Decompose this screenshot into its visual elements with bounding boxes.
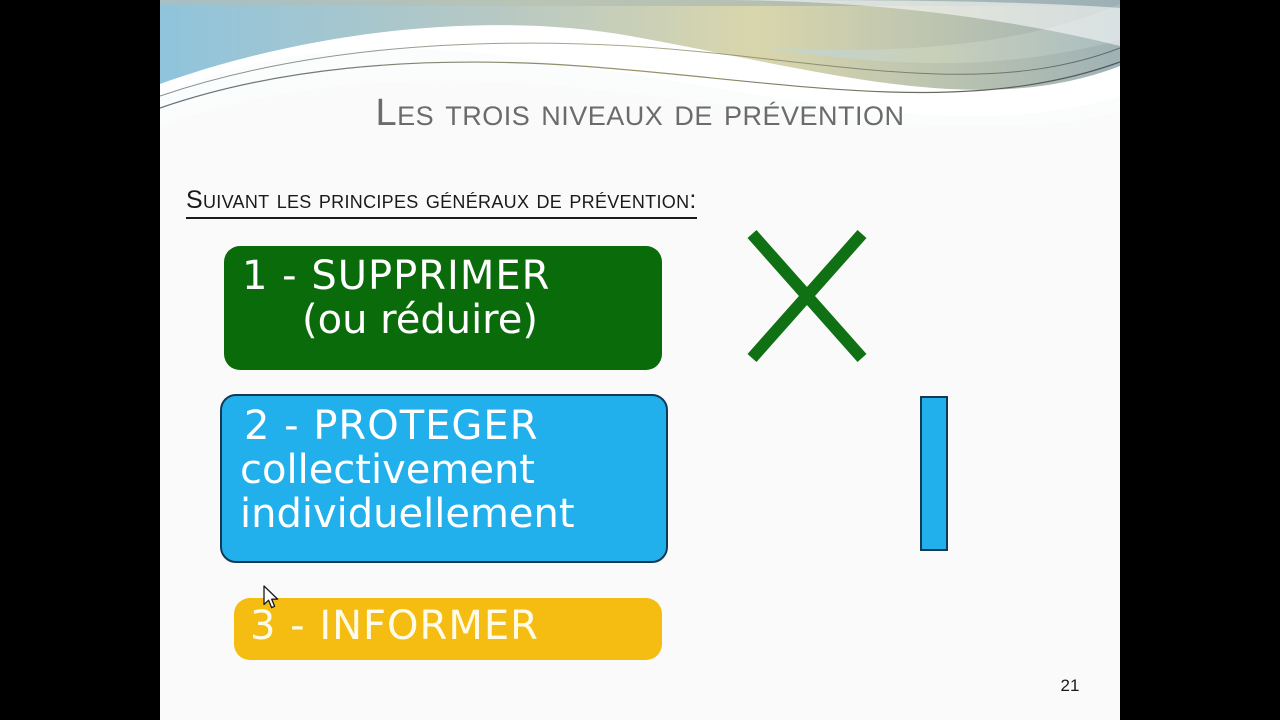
slide-title: Les trois niveaux de prévention — [160, 92, 1120, 135]
level-box-supprimer[interactable]: 1 - SUPPRIMER (ou réduire) — [224, 246, 662, 370]
banner-top-strip — [160, 0, 1120, 6]
level-proteger-line3: individuellement — [222, 492, 666, 536]
level-box-informer[interactable]: 3 - INFORMER — [234, 598, 662, 660]
video-letterbox-stage: Les trois niveaux de prévention Suivant … — [0, 0, 1280, 720]
green-cross-mark-icon — [744, 226, 870, 366]
level-proteger-line2: collectivement — [222, 448, 666, 492]
slide-page-number: 21 — [1040, 676, 1100, 696]
cross-mark-svg — [744, 226, 870, 366]
slide-subtitle: Suivant les principes généraux de préven… — [186, 186, 697, 219]
level-supprimer-line1: 1 - SUPPRIMER — [224, 254, 662, 298]
banner-pinstripe-upper — [160, 43, 1120, 96]
banner-light-ribbon — [720, 0, 1120, 46]
banner-sage-band — [770, 4, 1120, 63]
level-supprimer-line2: (ou réduire) — [224, 298, 662, 342]
level-box-proteger[interactable]: 2 - PROTEGER collectivement individuelle… — [220, 394, 668, 563]
blue-vertical-bar-shape — [920, 396, 948, 551]
level-proteger-line1: 2 - PROTEGER — [222, 404, 666, 448]
level-informer-line1: 3 - INFORMER — [234, 604, 662, 648]
presentation-slide: Les trois niveaux de prévention Suivant … — [160, 0, 1120, 720]
